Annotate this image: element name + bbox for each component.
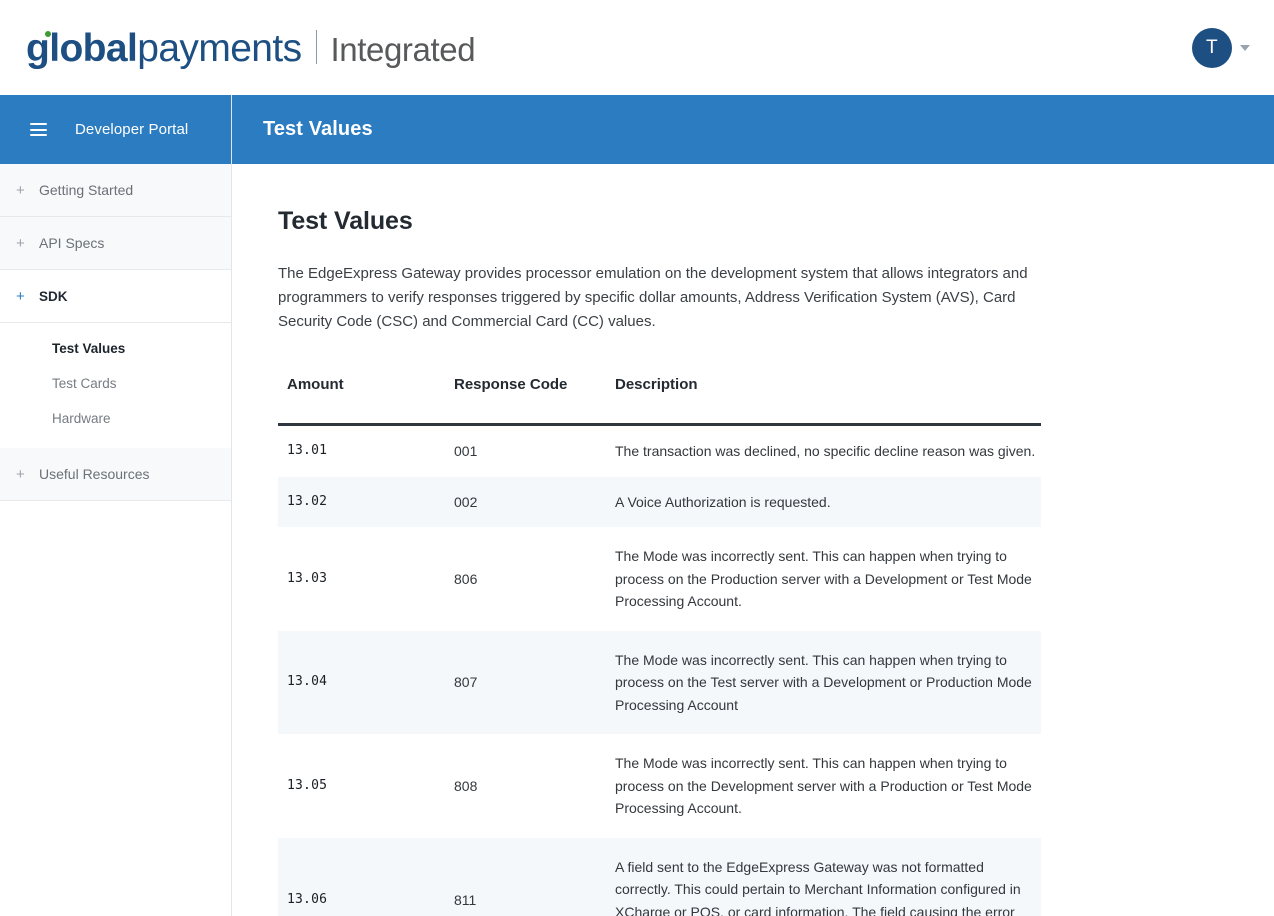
avatar[interactable]: T <box>1192 28 1232 68</box>
expand-plus-icon[interactable]: + <box>13 288 39 305</box>
sidebar-item-test-values[interactable]: Test Values <box>0 331 231 366</box>
cell-description: The Mode was incorrectly sent. This can … <box>606 734 1041 838</box>
cell-amount: 13.06 <box>278 838 445 916</box>
table-row: 13.03 806 The Mode was incorrectly sent.… <box>278 527 1041 631</box>
sidebar-item-label: SDK <box>39 289 68 304</box>
table-head: Amount Response Code Description <box>278 376 1041 425</box>
cell-description: The transaction was declined, no specifi… <box>606 425 1041 477</box>
main-column: Test Values Test Values The EdgeExpress … <box>232 95 1274 916</box>
sidebar-item-label: Useful Resources <box>39 466 150 482</box>
expand-plus-icon[interactable]: + <box>13 235 39 252</box>
app-body: Developer Portal + Getting Started + API… <box>0 95 1274 916</box>
cell-description: The Mode was incorrectly sent. This can … <box>606 527 1041 631</box>
sidebar-item-label: Getting Started <box>39 182 133 198</box>
sidebar-item-sdk[interactable]: + SDK <box>0 270 231 322</box>
top-brand-bar: global payments Integrated T <box>0 0 1274 95</box>
cell-response-code: 808 <box>445 734 606 838</box>
cell-response-code: 001 <box>445 425 606 477</box>
chevron-down-icon[interactable] <box>1240 45 1250 51</box>
cell-description: The Mode was incorrectly sent. This can … <box>606 631 1041 735</box>
cell-response-code: 002 <box>445 477 606 528</box>
intro-paragraph: The EdgeExpress Gateway provides process… <box>278 262 1041 334</box>
sidebar-group-sdk: + SDK <box>0 270 231 323</box>
sidebar-sublist-sdk: Test Values Test Cards Hardware <box>0 323 231 448</box>
expand-plus-icon[interactable]: + <box>13 182 39 199</box>
test-values-table: Amount Response Code Description 13.01 0… <box>278 376 1041 916</box>
cell-amount: 13.03 <box>278 527 445 631</box>
page-header-title: Test Values <box>263 118 373 141</box>
cell-amount: 13.05 <box>278 734 445 838</box>
cell-description: A Voice Authorization is requested. <box>606 477 1041 528</box>
logo-global-text: global <box>26 29 137 68</box>
sidebar-header: Developer Portal <box>0 95 231 164</box>
table-header-row: Amount Response Code Description <box>278 376 1041 425</box>
table-row: 13.04 807 The Mode was incorrectly sent.… <box>278 631 1041 735</box>
column-header-response-code: Response Code <box>445 376 606 425</box>
logo-green-dot-icon <box>45 31 51 37</box>
page-title: Test Values <box>278 164 1041 236</box>
table-row: 13.06 811 A field sent to the EdgeExpres… <box>278 838 1041 916</box>
table-body: 13.01 001 The transaction was declined, … <box>278 425 1041 916</box>
cell-description: A field sent to the EdgeExpress Gateway … <box>606 838 1041 916</box>
sidebar-group-useful-resources: + Useful Resources <box>0 448 231 501</box>
sidebar-item-label: API Specs <box>39 235 104 251</box>
table-row: 13.01 001 The transaction was declined, … <box>278 425 1041 477</box>
table-row: 13.02 002 A Voice Authorization is reque… <box>278 477 1041 528</box>
logo-divider <box>316 30 317 64</box>
column-header-description: Description <box>606 376 1041 425</box>
cell-amount: 13.01 <box>278 425 445 477</box>
hamburger-icon[interactable] <box>30 123 47 136</box>
table-row: 13.05 808 The Mode was incorrectly sent.… <box>278 734 1041 838</box>
cell-amount: 13.02 <box>278 477 445 528</box>
logo-integrated-text: Integrated <box>331 33 476 66</box>
cell-response-code: 807 <box>445 631 606 735</box>
logo-payments-text: payments <box>137 29 301 68</box>
column-header-amount: Amount <box>278 376 445 425</box>
page-header-bar: Test Values <box>232 95 1274 164</box>
brand-logo[interactable]: global payments Integrated <box>26 27 475 68</box>
sidebar-item-test-cards[interactable]: Test Cards <box>0 366 231 401</box>
content-area: Test Values The EdgeExpress Gateway prov… <box>232 164 1274 916</box>
sidebar-item-useful-resources[interactable]: + Useful Resources <box>0 448 231 500</box>
sidebar-group-api-specs: + API Specs <box>0 217 231 270</box>
cell-response-code: 811 <box>445 838 606 916</box>
sidebar-title: Developer Portal <box>75 121 188 138</box>
sidebar: Developer Portal + Getting Started + API… <box>0 95 232 916</box>
user-menu[interactable]: T <box>1192 28 1250 68</box>
expand-plus-icon[interactable]: + <box>13 466 39 483</box>
sidebar-group-getting-started: + Getting Started <box>0 164 231 217</box>
cell-response-code: 806 <box>445 527 606 631</box>
cell-amount: 13.04 <box>278 631 445 735</box>
sidebar-item-hardware[interactable]: Hardware <box>0 401 231 436</box>
sidebar-item-api-specs[interactable]: + API Specs <box>0 217 231 269</box>
sidebar-item-getting-started[interactable]: + Getting Started <box>0 164 231 216</box>
